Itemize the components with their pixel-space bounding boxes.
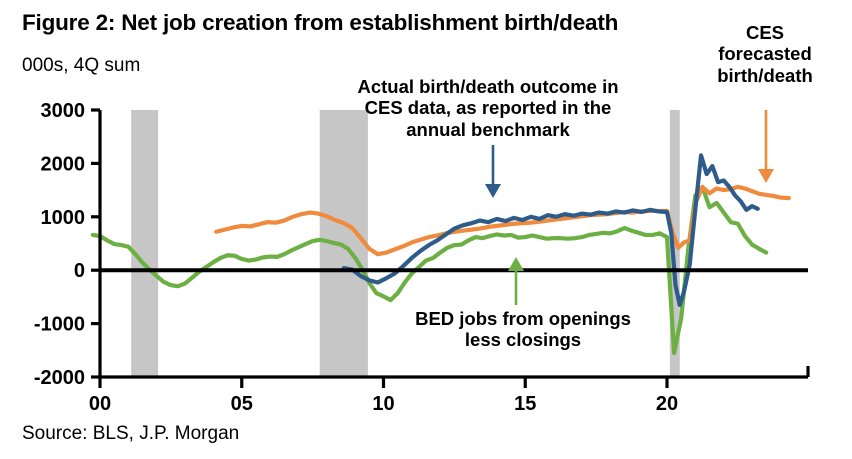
annotation-ces-actual-label: Actual birth/death outcome in CES data, …	[353, 76, 623, 140]
figure-units-label: 000s, 4Q sum	[22, 55, 140, 77]
recession-band-2	[320, 110, 368, 377]
figure-container: Figure 2: Net job creation from establis…	[0, 0, 852, 459]
y-tick-label-4: -1000	[34, 314, 85, 336]
x-tick-label-4: 20	[656, 393, 678, 415]
x-tick-label-2: 10	[372, 393, 394, 415]
arrow-ces-actual-head	[485, 184, 501, 198]
recession-band-1	[131, 110, 158, 377]
arrow-bed-head	[508, 257, 524, 271]
y-tick-label-0: 3000	[41, 100, 86, 122]
y-tick-label-5: -2000	[34, 367, 85, 389]
x-tick-label-1: 05	[231, 393, 253, 415]
x-tick-label-3: 15	[514, 393, 536, 415]
y-tick-label-3: 0	[74, 260, 85, 282]
annotation-ces-forecast-label: CES forecasted birth/death	[700, 22, 830, 86]
arrow-ces-forecast-head	[758, 169, 774, 183]
annotation-bed-label: BED jobs from openings less closings	[403, 308, 643, 351]
y-tick-label-1: 2000	[41, 153, 86, 175]
figure-title: Figure 2: Net job creation from establis…	[22, 10, 618, 36]
x-tick-label-0: 00	[89, 393, 111, 415]
y-tick-label-2: 1000	[41, 207, 86, 229]
figure-source-note: Source: BLS, J.P. Morgan	[22, 423, 239, 445]
